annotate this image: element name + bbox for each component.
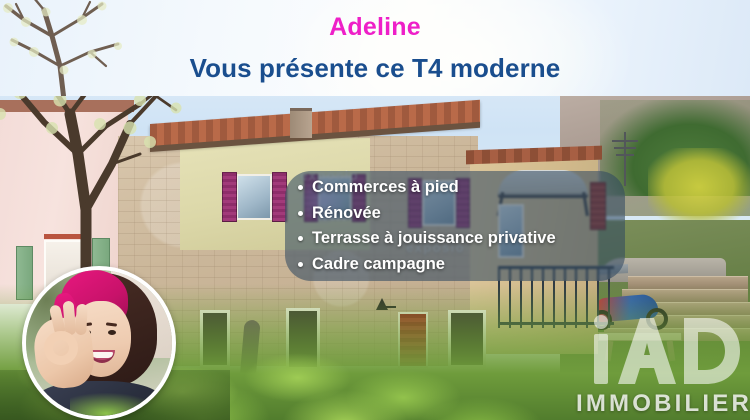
list-item: Cadre campagne [298, 252, 628, 278]
feature-label: Terrasse à jouissance privative [312, 226, 556, 252]
feature-label: Cadre campagne [312, 252, 445, 278]
list-item: Terrasse à jouissance privative [298, 226, 628, 252]
antenna-element [616, 154, 634, 156]
bullet-dot-icon [298, 236, 303, 241]
real-estate-ad: Adeline Vous présente ce T4 moderne expo… [0, 0, 750, 420]
page-subtitle-tagline: Vous présente ce T4 moderne [0, 53, 750, 84]
chimney [290, 108, 312, 138]
avatar [22, 266, 176, 420]
portrait-eye [108, 330, 116, 335]
list-item: Rénovée [298, 201, 628, 227]
portrait-teeth [92, 352, 113, 358]
portrait-finger [75, 303, 88, 335]
flowering-shrub [648, 148, 750, 226]
feature-label: Rénovée [312, 201, 381, 227]
feature-label: Commerces à pied [312, 175, 459, 201]
upper-window [236, 174, 272, 220]
antenna-element [614, 147, 636, 149]
features-list: Commerces à pied Rénovée Terrasse à joui… [298, 175, 628, 277]
bullet-dot-icon [298, 262, 303, 267]
list-item: Commerces à pied [298, 175, 628, 201]
portrait-foreground-foliage [70, 393, 161, 420]
page-title-agent-name: Adeline [0, 13, 750, 42]
bullet-dot-icon [298, 185, 303, 190]
bare-tree [0, 70, 230, 284]
antenna-element [612, 140, 638, 142]
ok-gesture-ring [44, 331, 78, 365]
bullet-dot-icon [298, 211, 303, 216]
